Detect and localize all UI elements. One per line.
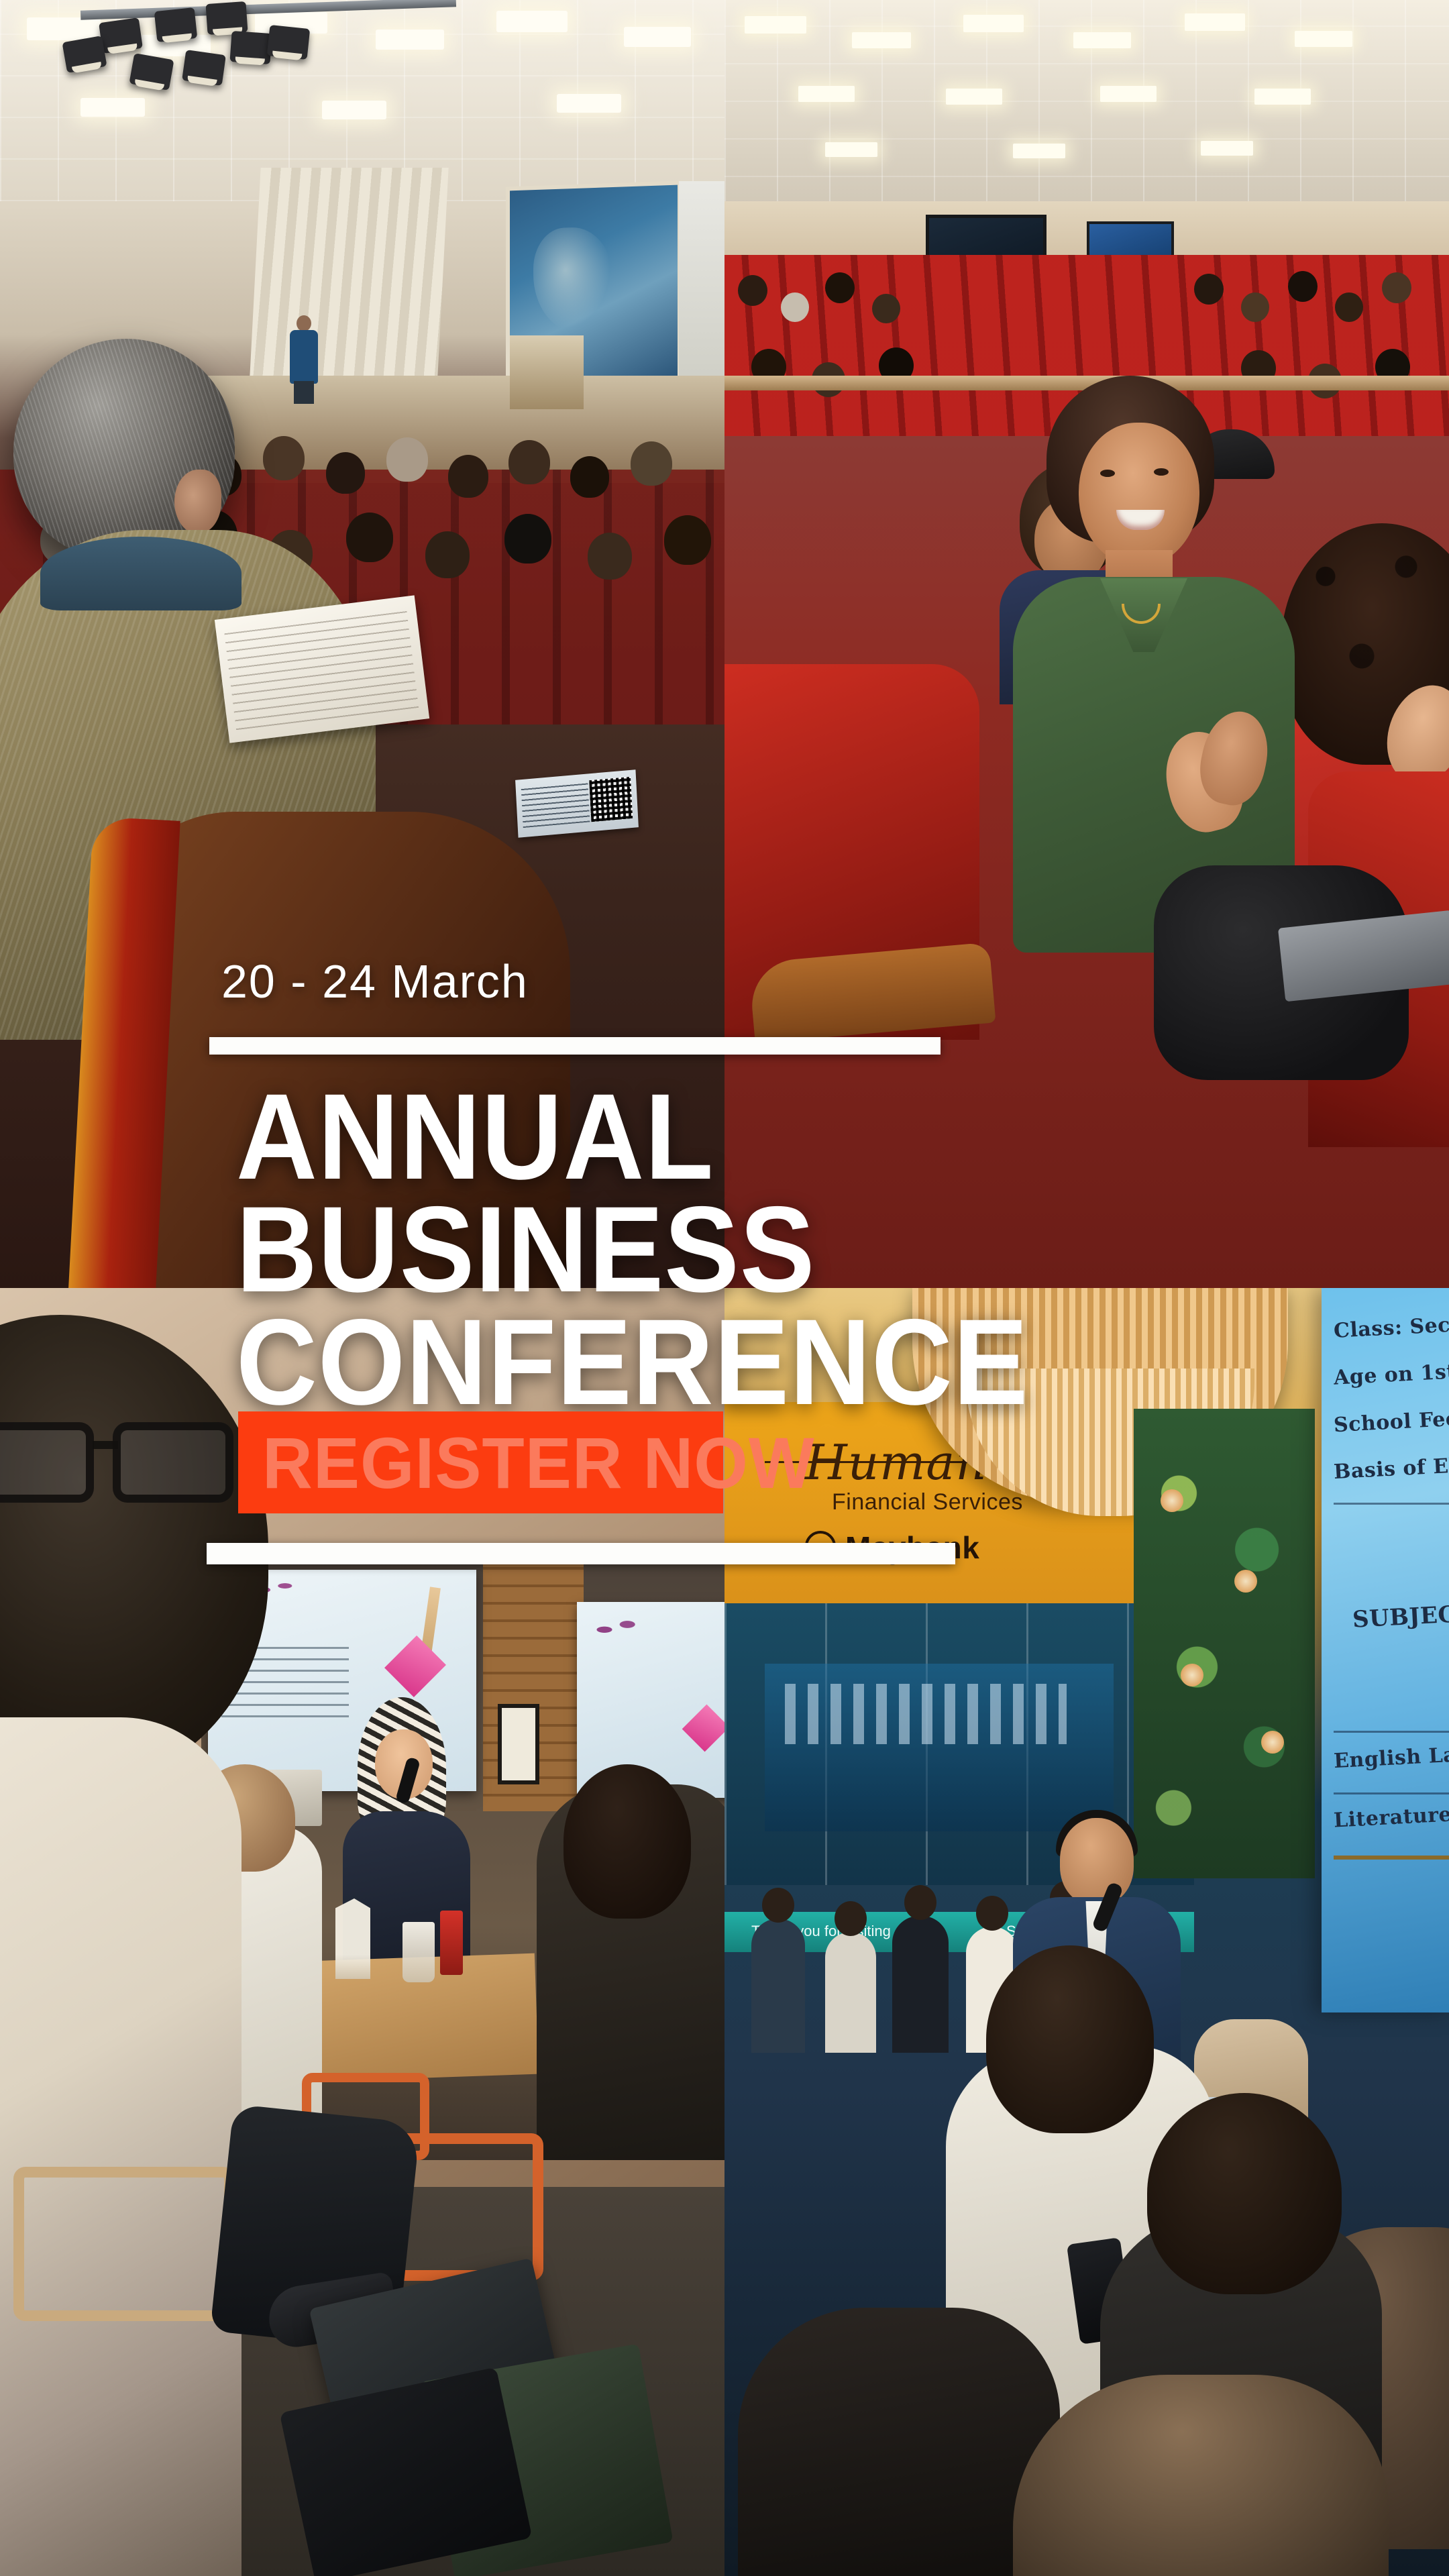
screen-line-5: SUBJECT: [1352, 1600, 1449, 1633]
screen-line-4: Basis of Eli: [1333, 1454, 1449, 1484]
maybank-brand: Maybank: [845, 1529, 979, 1566]
maybank-tagline-sub: Financial Services: [832, 1489, 1023, 1515]
photo-top-right: [724, 0, 1449, 1288]
photo-top-left: [0, 0, 724, 1288]
screen-line-3: School Fees: [1333, 1407, 1449, 1438]
maybank-logo-icon: [805, 1531, 836, 1562]
presentation-screen: Class: Sec. Age on 1st School Fees Basis…: [1322, 1288, 1449, 2012]
screen-line-1: Class: Sec.: [1333, 1313, 1449, 1343]
screen-line-2: Age on 1st: [1333, 1360, 1449, 1390]
register-now-button[interactable]: REGISTER NOW: [238, 1411, 723, 1513]
seat-qr-badge: [515, 769, 639, 838]
photo-bottom-right: Humanising Financial Services Maybank Cl…: [724, 1288, 1449, 2576]
screen-line-7: Literature: [1333, 1803, 1449, 1832]
register-now-label: REGISTER NOW: [262, 1421, 815, 1505]
screen-line-6: English Language: [1333, 1739, 1449, 1773]
photo-collage: Humanising Financial Services Maybank Cl…: [0, 0, 1449, 2576]
conference-poster: Humanising Financial Services Maybank Cl…: [0, 0, 1449, 2576]
